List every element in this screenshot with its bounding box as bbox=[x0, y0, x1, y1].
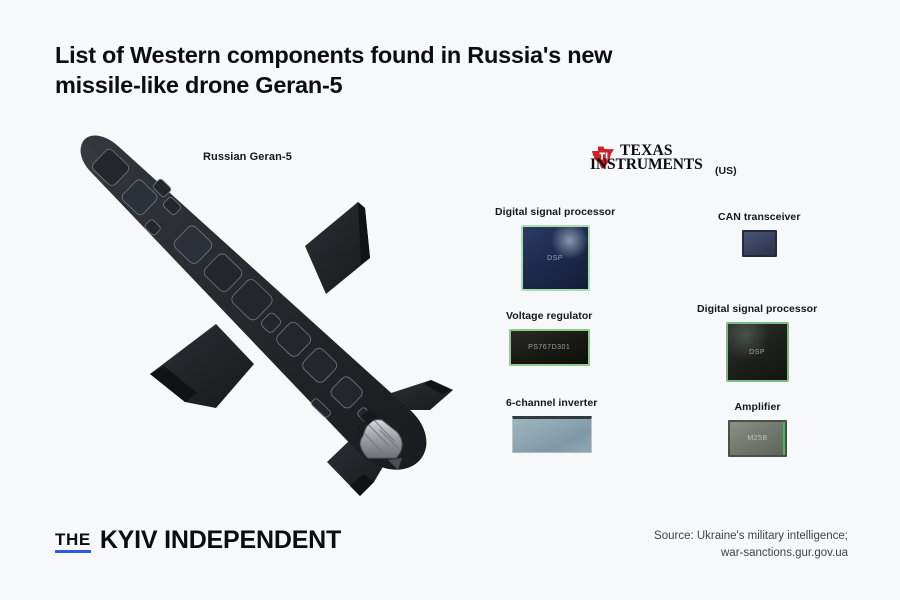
component-6-channel-inverter: 6-channel inverter bbox=[506, 397, 597, 458]
component-label: Amplifier bbox=[728, 401, 787, 413]
title-line-1: List of Western components found in Russ… bbox=[55, 40, 755, 70]
component-voltage-regulator: Voltage regulator PS767D301 bbox=[506, 310, 592, 371]
source-attribution: Source: Ukraine's military intelligence;… bbox=[654, 528, 848, 561]
chip-marking bbox=[744, 232, 775, 255]
drone-label: Russian Geran-5 bbox=[203, 151, 292, 163]
source-line-2: war-sanctions.gur.gov.ua bbox=[654, 545, 848, 562]
chip-marking: DSP bbox=[523, 227, 588, 289]
component-image: PS767D301 bbox=[509, 329, 590, 366]
chip-marking: DSP bbox=[728, 324, 787, 380]
component-image bbox=[512, 416, 592, 453]
logo-name: KYIV INDEPENDENT bbox=[100, 528, 341, 553]
chip-marking bbox=[513, 419, 591, 452]
component-label: Voltage regulator bbox=[506, 310, 592, 322]
logo-the: THE bbox=[55, 531, 91, 553]
component-label: Digital signal processor bbox=[697, 303, 817, 315]
brand-name-bottom: INSTRUMENTS bbox=[590, 158, 703, 172]
infographic-canvas: List of Western components found in Russ… bbox=[0, 0, 900, 600]
chip-marking: M25B bbox=[730, 422, 785, 455]
component-digital-signal-processor-2: Digital signal processor DSP bbox=[697, 303, 817, 387]
component-image: DSP bbox=[726, 322, 789, 382]
chip-marking: PS767D301 bbox=[511, 331, 588, 364]
drone-svg bbox=[58, 118, 478, 508]
component-image bbox=[742, 230, 777, 257]
manufacturer-brand: TEXAS INSTRUMENTS (US) bbox=[590, 145, 737, 185]
component-amplifier: Amplifier M25B bbox=[728, 401, 787, 462]
brand-country: (US) bbox=[715, 165, 737, 177]
component-label: CAN transceiver bbox=[718, 211, 800, 223]
drone-illustration: Russian Geran-5 bbox=[58, 118, 478, 508]
texas-instruments-logo: TEXAS INSTRUMENTS bbox=[590, 145, 705, 185]
drone-wing-left bbox=[150, 324, 254, 408]
page-title: List of Western components found in Russ… bbox=[55, 40, 755, 100]
component-image: M25B bbox=[728, 420, 787, 457]
source-line-1: Source: Ukraine's military intelligence; bbox=[654, 528, 848, 545]
component-digital-signal-processor-1: Digital signal processor DSP bbox=[495, 206, 615, 296]
publication-logo: THE KYIV INDEPENDENT bbox=[55, 528, 341, 553]
drone-wing-right bbox=[305, 202, 370, 294]
title-line-2: missile-like drone Geran-5 bbox=[55, 70, 755, 100]
component-can-transceiver: CAN transceiver bbox=[718, 211, 800, 262]
component-image: DSP bbox=[521, 225, 590, 291]
texas-instruments-wordmark: TEXAS INSTRUMENTS bbox=[620, 144, 703, 173]
component-label: Digital signal processor bbox=[495, 206, 615, 218]
component-label: 6-channel inverter bbox=[506, 397, 597, 409]
